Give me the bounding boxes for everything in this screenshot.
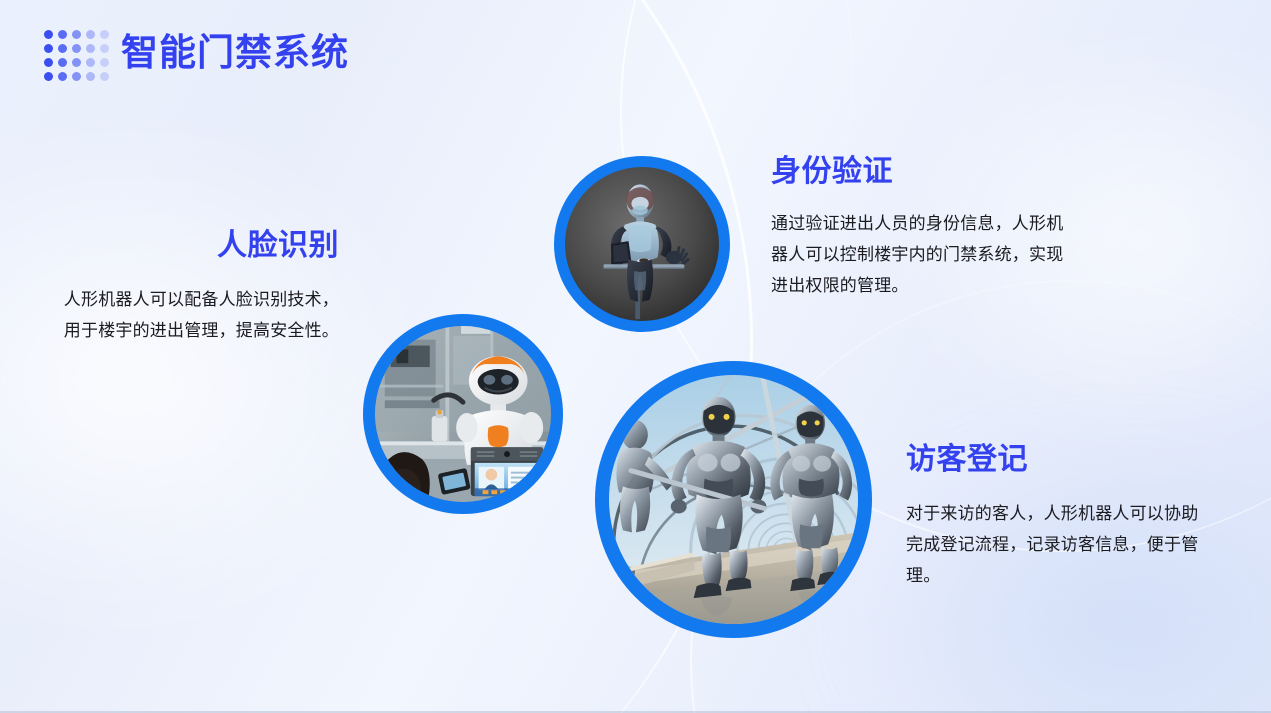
slide-canvas: 智能门禁系统 <box>0 0 1271 713</box>
page-title: 智能门禁系统 <box>121 30 349 76</box>
service-robot-face-recognition-photo <box>375 326 551 502</box>
dot-grid-icon <box>44 30 114 86</box>
slide-header: 智能门禁系统 <box>0 0 1271 100</box>
content-block-identity-verification: 身份验证 通过验证进出人员的身份信息，人形机器人可以控制楼宇内的门禁系统，实现进… <box>771 152 1073 301</box>
block-heading-face-recognition: 人脸识别 <box>56 226 339 266</box>
humanoid-robot-at-desk-photo <box>565 167 719 321</box>
block-heading-visitor-registration: 访客登记 <box>906 440 1214 480</box>
background-decoration <box>0 0 1271 713</box>
content-block-face-recognition: 人脸识别 人形机器人可以配备人脸识别技术，用于楼宇的进出管理，提高安全性。 <box>56 226 339 346</box>
content-block-visitor-registration: 访客登记 对于来访的客人，人形机器人可以协助完成登记流程，记录访客信息，便于管理… <box>906 440 1214 591</box>
block-body-identity-verification: 通过验证进出人员的身份信息，人形机器人可以控制楼宇内的门禁系统，实现进出权限的管… <box>771 208 1073 301</box>
image-circle-face-recognition <box>363 314 563 514</box>
block-heading-identity-verification: 身份验证 <box>771 152 1073 192</box>
image-circle-visitor-registration <box>595 361 872 638</box>
block-body-visitor-registration: 对于来访的客人，人形机器人可以协助完成登记流程，记录访客信息，便于管理。 <box>906 498 1214 591</box>
image-circle-identity <box>554 156 730 332</box>
block-body-face-recognition: 人形机器人可以配备人脸识别技术，用于楼宇的进出管理，提高安全性。 <box>56 284 339 346</box>
humanoid-robots-in-glass-corridor-photo <box>609 375 858 624</box>
